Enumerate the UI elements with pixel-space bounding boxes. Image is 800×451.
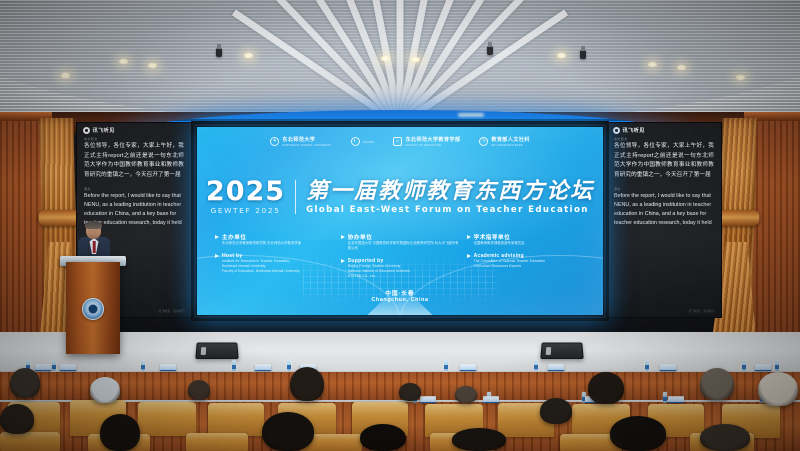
name-card [420,396,436,403]
right-stage-curtain [717,118,757,336]
ceiling-downlight [735,74,746,81]
water-bottle [444,360,448,371]
ceiling-downlight [676,64,687,71]
forum-title-en: Global East-West Forum on Teacher Educat… [306,205,594,215]
forum-year: 2025 [206,179,285,205]
title-divider [295,180,296,214]
transcript-label-en: 译文 [614,187,721,191]
arrow-icon [467,254,471,258]
transcript-label-cn: 中文原文 [84,137,191,141]
panel-watermark: 讯飞听见 · 实时转写 [159,309,185,313]
audience-member-head [700,368,734,400]
main-led-screen: ✦东北师范大学NORTHEAST NORMAL UNIVERSITY◐CENTR… [197,127,603,315]
sponsor-logo-en: FACULTY OF EDUCATION [405,144,460,147]
sponsor-logo-cn: 东北师范大学教育学部 [405,136,460,143]
water-bottle [775,360,779,371]
sponsor-logo: Ⓐ教育部人文社科KEY RESEARCH BASE [479,136,529,147]
speaker-hair [85,221,102,229]
ceiling-downlight [647,61,658,68]
water-bottle [663,392,667,403]
credit-group: Academic advisingThe Committee of Nation… [467,253,585,269]
audience-member-head [290,367,324,401]
credit-line: Faculty of Education, Northeast Normal U… [222,269,333,274]
water-bottle [52,360,56,371]
credit-group: Host byInstitute for Research in Teacher… [215,253,333,274]
transcript-text-cn: 各位领导，各位专家，大家上午好，我正式主持report之前还是说一句东北师范大学… [77,142,191,180]
ceiling-downlight [243,52,254,59]
ceiling-downlight [118,58,129,65]
water-bottle [141,360,145,371]
audience-member-head [90,377,120,403]
ring-logo-icon: ◐ [351,137,360,146]
name-card [35,364,51,371]
sponsor-logo-cn: 东北师范大学 [282,136,331,143]
band-light-glow [458,113,484,117]
sponsor-logo-en: NORTHEAST NORMAL UNIVERSITY [282,144,331,147]
ceiling-speaker-icon [216,48,222,57]
credit-line: iFLYTEK Co., Ltd. [348,274,459,279]
credit-group: 主办单位东北师范大学教师教育研究院 东北师范大学教育学部 [215,233,333,246]
audience-member-head [610,416,666,451]
audience-member-head [100,414,140,451]
credit-title: 协办单位 [348,233,372,241]
iflytek-logo-icon [613,127,620,134]
year-block: 2025 GEWTEF 2025 [206,179,285,215]
sponsor-logo-row: ✦东北师范大学NORTHEAST NORMAL UNIVERSITY◐CENTR… [197,136,603,147]
forum-title-cn: 第一届教师教育东西方论坛 [306,180,594,203]
water-bottle [645,360,649,371]
transcript-text-cn: 各位领导，各位专家，大家上午好，我正式主持report之前还是说一句东北师范大学… [607,142,721,180]
water-bottle [742,360,746,371]
floor-monitor-speaker [195,343,238,360]
audience-seat [138,402,196,436]
audience-member-head [700,424,750,451]
ceiling-downlight [380,55,391,62]
curtain-tieback [717,210,759,226]
location-cn: 中国·长春 [197,289,603,297]
credit-title: Supported by [348,258,384,264]
audience-member-head [10,368,40,398]
sponsor-logo-en: KEY RESEARCH BASE [491,144,529,147]
credit-group: Supported byBeijing Foreign Studies Univ… [341,258,459,279]
audience-seat [208,403,264,436]
audience-member-head [455,386,477,403]
name-card [255,364,271,371]
book-logo-icon: ⌂ [393,137,402,146]
audience-member-head [360,424,406,451]
credit-title: 学术指导单位 [474,233,511,241]
iflytek-logo-icon [83,127,90,134]
ceiling-downlight [556,52,567,59]
brand-name: 讯飞听见 [93,127,115,134]
audience-member-head [452,428,506,451]
arrow-icon [467,235,471,239]
credit-column: 主办单位东北师范大学教师教育研究院 东北师范大学教育学部Host byInsti… [215,233,333,286]
curtain-tieback [39,210,81,226]
water-bottle [287,360,291,371]
location-block: 中国·长春 Changchun, China [197,289,603,303]
name-card [460,364,476,371]
credit-group: 协办单位北京外国语大学 中国教育科学研究院国际比较教育研究所 科大讯飞股份有限公… [341,233,459,251]
location-en: Changchun, China [197,297,603,303]
sponsor-logo-en: CENTRE [363,141,375,144]
credit-heading: 学术指导单位 [467,233,585,241]
credit-line: Curriculum Resources Experts [474,264,585,269]
audience-member-head [262,412,314,451]
audience-member-head [758,372,798,406]
sponsor-logo: ✦东北师范大学NORTHEAST NORMAL UNIVERSITY [270,136,331,147]
sponsor-logo-cn: 教育部人文社科 [491,136,529,143]
audience-seat [0,432,60,451]
audience-member-head [188,380,210,400]
iflytek-brand: 讯飞听见 [77,123,191,134]
audience-member-head [588,372,624,404]
audience-member-head [399,383,421,401]
credits-columns: 主办单位东北师范大学教师教育研究院 东北师范大学教育学部Host byInsti… [215,233,585,286]
credit-heading: 主办单位 [215,233,333,241]
name-card [160,364,176,371]
arrow-icon [341,235,345,239]
credit-line: 全国教师教育课程资源专家委员会 [474,241,585,246]
arrow-icon [215,235,219,239]
ceiling-speaker-icon [487,46,493,55]
credit-line: 东北师范大学教师教育研究院 东北师范大学教育学部 [222,241,333,246]
credit-group: 学术指导单位全国教师教育课程资源专家委员会 [467,233,585,246]
forum-title-block: 2025 GEWTEF 2025 第一届教师教育东西方论坛 Global Eas… [197,179,603,215]
arrow-icon [341,259,345,263]
name-card [60,364,76,371]
audience-member-head [0,404,34,434]
water-bottle [232,360,236,371]
circle-a-logo-icon: Ⓐ [479,137,488,146]
name-card [660,364,676,371]
ceiling-downlight [147,62,158,69]
transcript-label-en: 译文 [84,187,191,191]
band-light-glow [166,112,192,116]
name-card [548,364,564,371]
transcript-text-en: Before the report, I would like to say t… [607,192,721,228]
speaker-podium [66,262,120,354]
brand-name: 讯飞听见 [623,127,645,134]
credit-heading: 协办单位 [341,233,459,241]
forum-acronym: GEWTEF 2025 [206,206,285,215]
right-caption-panel: 讯飞听见 中文原文 各位领导，各位专家，大家上午好，我正式主持report之前还… [606,122,722,318]
credit-column: 学术指导单位全国教师教育课程资源专家委员会Academic advisingTh… [467,233,585,286]
name-card [755,364,771,371]
credit-title: 主办单位 [222,233,246,241]
ceiling-downlight [410,56,421,63]
name-card [668,396,684,403]
credit-column: 协办单位北京外国语大学 中国教育科学研究院国际比较教育研究所 科大讯飞股份有限公… [341,233,459,286]
name-card [483,396,499,403]
audience-member-head [540,398,572,424]
ceiling [0,0,800,118]
conference-hall-photo: 讯飞听见 中文原文 各位领导，各位专家，大家上午好，我正式主持report之前还… [0,0,800,451]
sponsor-logo: ◐CENTRE [351,137,375,146]
transcript-label-cn: 中文原文 [614,137,721,141]
title-text-block: 第一届教师教育东西方论坛 Global East-West Forum on T… [306,180,594,215]
audience-seat [186,433,248,451]
speaker-tie [93,241,96,253]
iflytek-brand: 讯飞听见 [607,123,721,134]
water-bottle [534,360,538,371]
panel-watermark: 讯飞听见 · 实时转写 [689,309,715,313]
university-emblem [82,298,104,320]
credit-line: 北京外国语大学 中国教育科学研究院国际比较教育研究所 科大讯飞股份有限公司 [348,241,459,251]
ceiling-speaker-icon [580,50,586,59]
university-seal-icon: ✦ [270,137,279,146]
arrow-icon [215,254,219,258]
floor-monitor-speaker [540,343,583,360]
sponsor-logo: ⌂东北师范大学教育学部FACULTY OF EDUCATION [393,136,460,147]
ceiling-downlight [60,72,71,79]
